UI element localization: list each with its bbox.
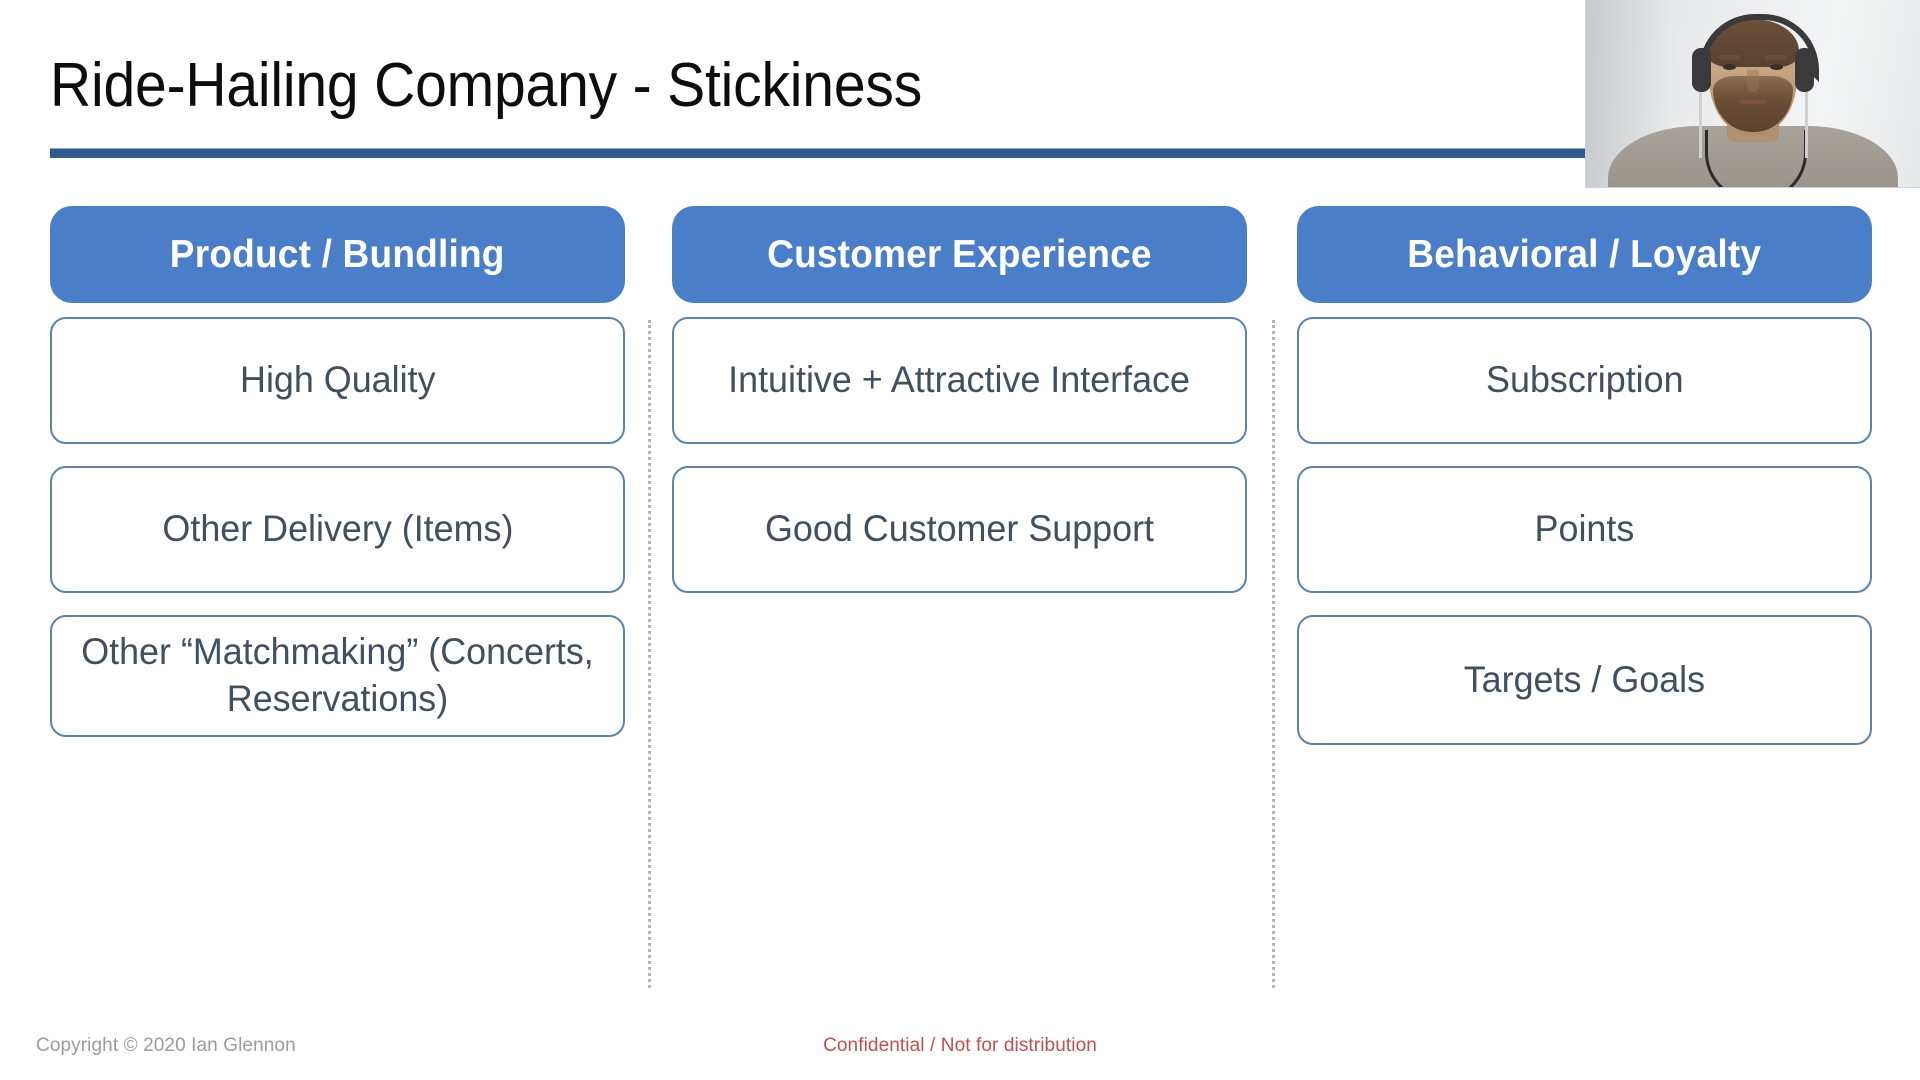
page-title: Ride-Hailing Company - Stickiness [50, 54, 1485, 117]
column-header-customer-experience[interactable]: Customer Experience [672, 206, 1247, 303]
card-label: Points [1535, 506, 1635, 553]
column-behavioral-loyalty: Behavioral / Loyalty Subscription Points… [1297, 206, 1872, 767]
column-header-label: Product / Bundling [170, 233, 505, 277]
card-label: Other Delivery (Items) [162, 506, 513, 553]
presenter-video-overlay[interactable] [1585, 0, 1920, 188]
column-header-label: Behavioral / Loyalty [1408, 233, 1762, 277]
card-intuitive-attractive-interface[interactable]: Intuitive + Attractive Interface [672, 317, 1247, 444]
card-label: Intuitive + Attractive Interface [729, 357, 1191, 404]
column-header-product-bundling[interactable]: Product / Bundling [50, 206, 625, 303]
headphone-earcup-right [1795, 48, 1814, 92]
card-good-customer-support[interactable]: Good Customer Support [672, 466, 1247, 593]
title-underline-rule [50, 148, 1592, 158]
card-list-behavioral-loyalty: Subscription Points Targets / Goals [1297, 317, 1872, 745]
columns-container: Product / Bundling High Quality Other De… [0, 206, 1920, 846]
card-label: Subscription [1486, 357, 1684, 404]
card-targets-goals[interactable]: Targets / Goals [1297, 615, 1872, 745]
column-product-bundling: Product / Bundling High Quality Other De… [50, 206, 625, 759]
card-subscription[interactable]: Subscription [1297, 317, 1872, 444]
headphone-wire-right [1805, 88, 1808, 158]
card-high-quality[interactable]: High Quality [50, 317, 625, 444]
card-label: Targets / Goals [1464, 657, 1705, 704]
card-label: Other “Matchmaking” (Concerts, Reservati… [78, 629, 597, 722]
headphone-earcup-left [1692, 48, 1711, 92]
card-list-product-bundling: High Quality Other Delivery (Items) Othe… [50, 317, 625, 737]
headphone-wire-left [1699, 88, 1702, 158]
card-label: High Quality [240, 357, 435, 404]
card-list-customer-experience: Intuitive + Attractive Interface Good Cu… [672, 317, 1247, 593]
column-header-label: Customer Experience [767, 233, 1152, 277]
presenter-mouth [1739, 100, 1767, 104]
card-label: Good Customer Support [765, 506, 1154, 553]
card-points[interactable]: Points [1297, 466, 1872, 593]
card-other-delivery-items[interactable]: Other Delivery (Items) [50, 466, 625, 593]
column-customer-experience: Customer Experience Intuitive + Attracti… [672, 206, 1247, 615]
card-other-matchmaking[interactable]: Other “Matchmaking” (Concerts, Reservati… [50, 615, 625, 737]
title-block: Ride-Hailing Company - Stickiness [50, 54, 1610, 117]
column-header-behavioral-loyalty[interactable]: Behavioral / Loyalty [1297, 206, 1872, 303]
footer-confidential-notice: Confidential / Not for distribution [0, 1035, 1920, 1057]
